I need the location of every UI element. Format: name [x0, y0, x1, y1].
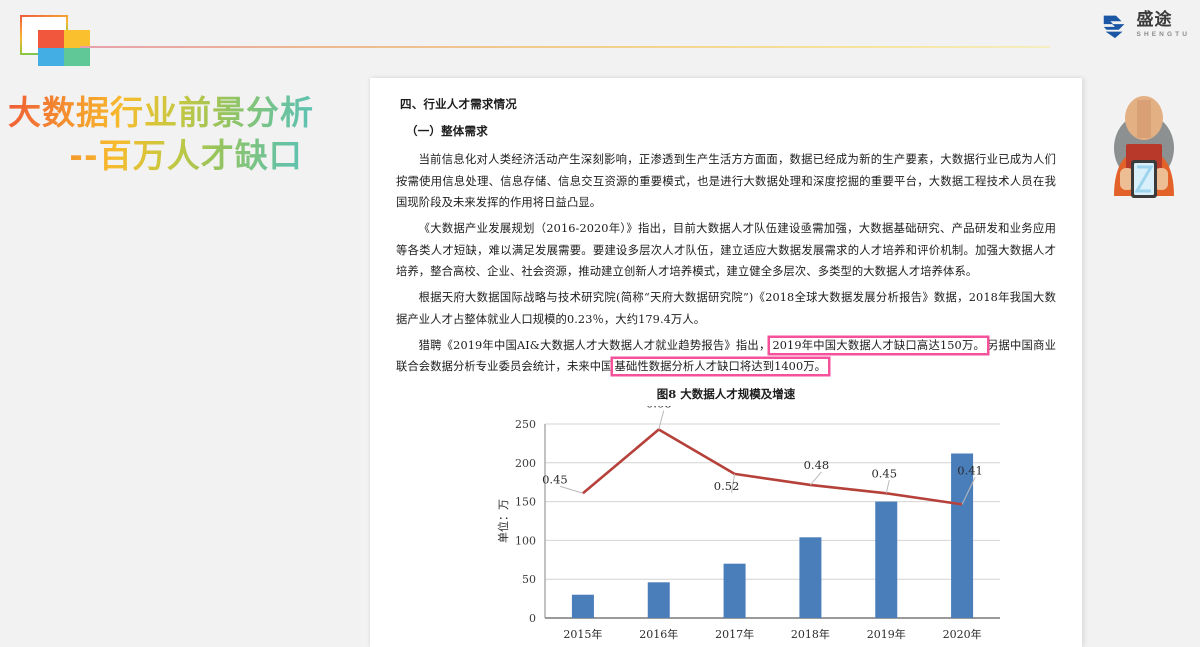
svg-text:0.52: 0.52	[714, 479, 740, 493]
chart-container: 050100150200250单位：万2015年2016年2017年2018年2…	[370, 406, 1082, 647]
svg-text:50: 50	[522, 573, 536, 586]
figure-title: 图8 大数据人才规模及增速	[396, 386, 1056, 402]
svg-text:0.45: 0.45	[871, 466, 897, 480]
document-paragraph-highlighted: 猎聘《2019年中国AI&大数据人才大数据人才就业趋势报告》指出，2019年中国…	[396, 335, 1056, 378]
svg-text:150: 150	[515, 495, 536, 508]
highlight-box-150wan: 2019年中国大数据人才缺口高达150万。	[770, 338, 987, 353]
svg-text:0.68: 0.68	[646, 406, 672, 411]
svg-text:2016年: 2016年	[639, 627, 678, 641]
header-divider	[80, 46, 1050, 48]
logo-swatch-blue	[38, 48, 64, 66]
document-paragraph: 当前信息化对人类经济活动产生深刻影响，正渗透到生产生活方方面面，数据已经成为新的…	[396, 149, 1056, 214]
svg-text:100: 100	[515, 534, 536, 547]
svg-text:单位：万: 单位：万	[496, 499, 510, 543]
svg-text:250: 250	[515, 418, 536, 431]
svg-text:0: 0	[529, 612, 536, 625]
svg-text:0.41: 0.41	[957, 463, 983, 477]
corporate-logo: 盛途 SHENGTU	[1100, 10, 1190, 40]
paragraph-text-part1: 猎聘《2019年中国AI&大数据人才大数据人才就业趋势报告》指出，	[419, 339, 771, 352]
svg-text:2019年: 2019年	[867, 627, 906, 641]
svg-text:2017年: 2017年	[715, 627, 754, 641]
corp-logo-en: SHENGTU	[1137, 32, 1190, 39]
logo-swatch-green	[64, 48, 90, 66]
bar-line-chart: 050100150200250单位：万2015年2016年2017年2018年2…	[370, 406, 1082, 647]
page-title-line2: --百万人才缺口	[8, 135, 348, 178]
highlight-box-1400wan: 基础性数据分析人才缺口将达到1400万。	[613, 359, 829, 374]
document-paragraph: 《大数据产业发展规划（2016-2020年）》指出，目前大数据人才队伍建设亟需加…	[396, 218, 1056, 283]
svg-text:200: 200	[515, 457, 536, 470]
document-body: 四、行业人才需求情况 （一）整体需求 当前信息化对人类经济活动产生深刻影响，正渗…	[370, 78, 1082, 647]
logo-swatch-red	[38, 30, 64, 48]
svg-text:2020年: 2020年	[943, 627, 982, 641]
svg-text:2015年: 2015年	[563, 627, 602, 641]
corp-logo-cn: 盛途	[1137, 12, 1173, 29]
document-subheading: （一）整体需求	[406, 123, 1056, 139]
person-hair-part	[1137, 100, 1151, 138]
svg-text:2018年: 2018年	[791, 627, 830, 641]
page-title-line1: 大数据行业前景分析	[8, 92, 348, 135]
person-using-phone-topdown-icon	[1096, 92, 1192, 202]
shengtu-s-mark-icon	[1100, 10, 1130, 40]
svg-text:0.45: 0.45	[542, 472, 568, 486]
svg-text:0.48: 0.48	[804, 458, 830, 472]
document-heading: 四、行业人才需求情况	[400, 96, 1056, 112]
document-paragraph: 根据天府大数据国际战略与技术研究院(简称“天府大数据研究院”)《2018全球大数…	[396, 287, 1056, 330]
top-bar: 盛途 SHENGTU	[0, 0, 1200, 62]
document-page: 四、行业人才需求情况 （一）整体需求 当前信息化对人类经济活动产生深刻影响，正渗…	[370, 78, 1082, 647]
four-color-square-logo	[18, 13, 90, 65]
page-title: 大数据行业前景分析 --百万人才缺口	[8, 92, 348, 178]
logo-color-grid	[38, 30, 90, 66]
